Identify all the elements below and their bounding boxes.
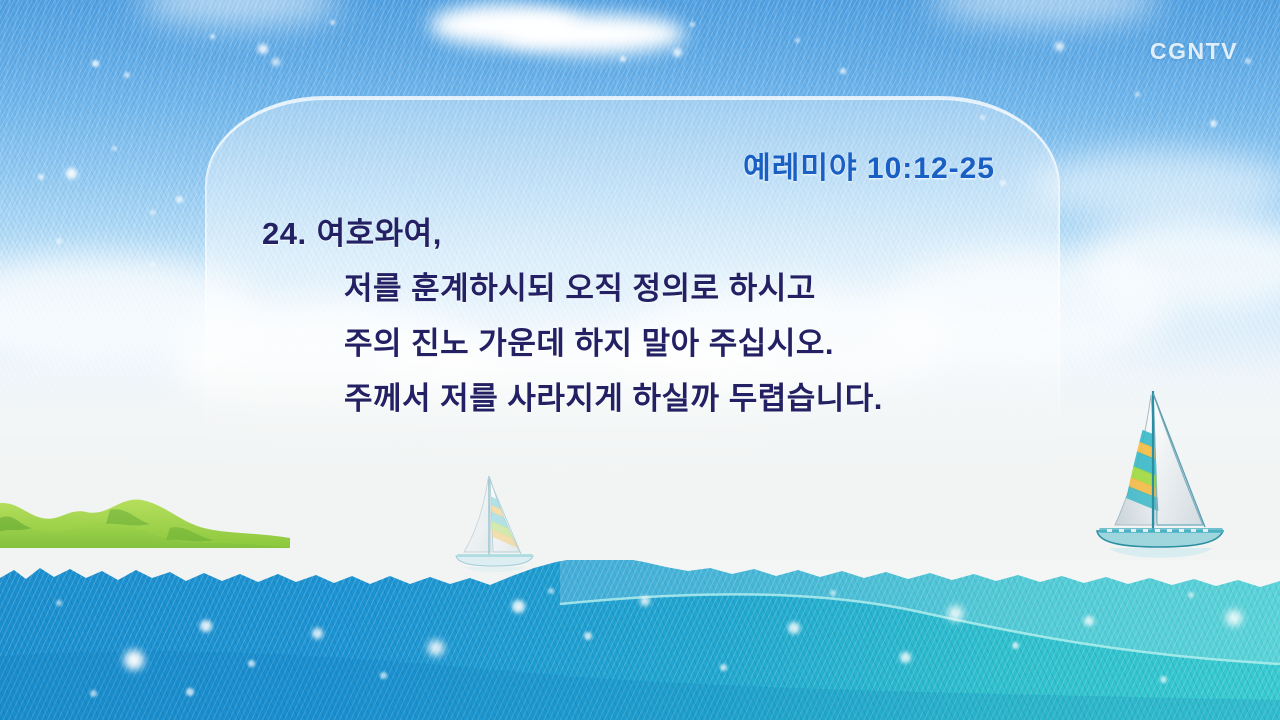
verse-line-1: 24.여호와여,: [262, 206, 1022, 261]
sparkle-dot: [428, 640, 444, 656]
sparkle-dot: [124, 650, 144, 670]
sparkle-dot: [1055, 42, 1064, 51]
sparkle-dot: [92, 60, 99, 67]
sparkle-dot: [200, 620, 212, 632]
sparkle-dot: [38, 174, 44, 180]
sparkle-dot: [948, 606, 963, 621]
sparkle-dot: [380, 672, 387, 679]
sparkle-dot: [788, 622, 800, 634]
sparkle-dot: [258, 44, 268, 54]
verse-text-block: 24.여호와여, 저를 훈계하시되 오직 정의로 하시고 주의 진노 가운데 하…: [262, 206, 1022, 426]
sparkle-dot: [56, 238, 62, 244]
sparkle-dot: [673, 48, 682, 57]
sparkle-dot: [1226, 610, 1242, 626]
sparkle-dot: [830, 590, 836, 596]
sparkle-dot: [56, 600, 62, 606]
sparkle-dot: [272, 58, 280, 66]
sparkle-dot: [720, 664, 727, 671]
sparkle-dot: [1160, 676, 1167, 683]
sparkle-dot: [312, 628, 323, 639]
slide-canvas: 예레미야 10:12-25 24.여호와여, 저를 훈계하시되 오직 정의로 하…: [0, 0, 1280, 720]
sparkle-dot: [1210, 120, 1217, 127]
sparkle-dot: [1012, 642, 1019, 649]
sparkle-dot: [840, 68, 846, 74]
sparkle-dot: [124, 72, 130, 78]
sparkle-dot: [330, 20, 335, 25]
sparkle-dot: [1135, 92, 1140, 97]
sparkle-dot: [1084, 616, 1094, 626]
sailboat-small: [450, 470, 545, 575]
sparkle-dot: [186, 688, 194, 696]
sparkle-dot: [548, 588, 554, 594]
sparkle-dot: [512, 600, 525, 613]
sparkle-dot: [150, 262, 155, 267]
sparkle-dot: [795, 38, 800, 43]
sparkle-dot: [248, 660, 255, 667]
scripture-reference: 예레미야 10:12-25: [743, 143, 995, 187]
cgntv-logo: CGNTV: [1150, 38, 1238, 65]
sparkle-dot: [90, 690, 97, 697]
cloud-shape: [500, 14, 685, 54]
sparkle-dot: [150, 210, 155, 215]
sparkle-dot: [620, 56, 626, 62]
sparkle-dot: [900, 652, 911, 663]
sparkle-dot: [690, 22, 695, 27]
sparkle-dot: [1245, 58, 1251, 64]
verse-line-1-text: 여호와여,: [317, 216, 442, 251]
cloud-shape: [1030, 150, 1280, 220]
sparkle-dot: [584, 632, 592, 640]
verse-number: 24.: [262, 216, 307, 251]
verse-line-4: 주께서 저를 사라지게 하실까 두렵습니다.: [262, 371, 1022, 426]
sailboat-large: [1085, 385, 1245, 575]
sparkle-dot: [176, 196, 183, 203]
verse-line-3: 주의 진노 가운데 하지 말아 주십시오.: [262, 316, 1022, 371]
sparkle-dot: [640, 596, 650, 606]
wave-highlight: [0, 560, 1280, 720]
sparkle-dot: [1188, 592, 1194, 598]
sparkle-dot: [112, 146, 117, 151]
verse-line-2: 저를 훈계하시되 오직 정의로 하시고: [262, 261, 1022, 316]
sparkle-dot: [210, 34, 215, 39]
sparkle-dot: [66, 168, 77, 179]
